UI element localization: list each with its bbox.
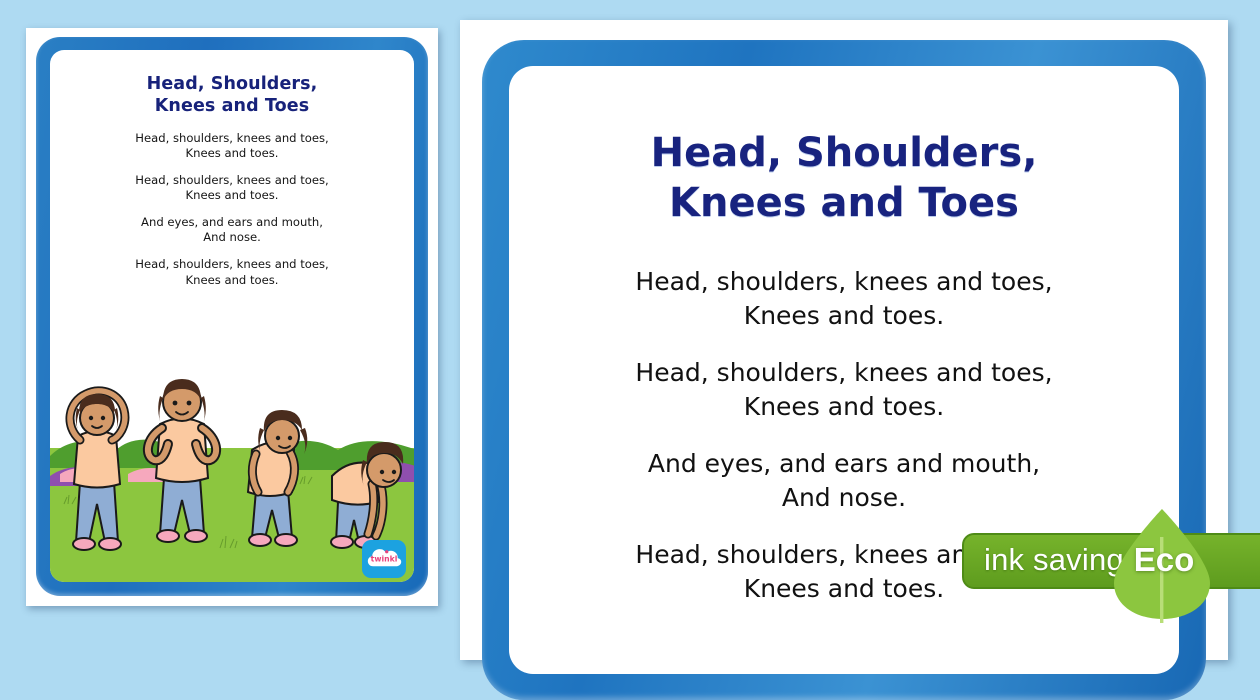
verse-line: Head, shoulders, knees and toes,: [80, 131, 384, 146]
svg-text:twinkl: twinkl: [371, 555, 398, 564]
thumbnail-title: Head, Shoulders, Knees and Toes: [74, 73, 390, 117]
poster-verse: Head, shoulders, knees and toes, Knees a…: [579, 265, 1109, 333]
thumbnail-verse: Head, shoulders, knees and toes, Knees a…: [80, 257, 384, 287]
page-title-line-2: Knees and Toes: [549, 178, 1139, 228]
poster-preview-stage: Head, Shoulders, Knees and Toes Head, sh…: [0, 0, 1260, 630]
thumbnail-blue-border: Head, Shoulders, Knees and Toes Head, sh…: [36, 37, 428, 596]
verse-line: And eyes, and ears and mouth,: [80, 215, 384, 230]
eco-badge-leaf-label: Eco: [1127, 541, 1201, 579]
children-exercise-illustration: twinkl: [50, 352, 414, 582]
verse-line: Knees and toes.: [579, 390, 1109, 424]
illustration-svg: [50, 352, 414, 582]
poster-blue-border: Head, Shoulders, Knees and Toes Head, sh…: [482, 40, 1206, 700]
eco-badge-label: ink saving: [984, 542, 1124, 578]
poster-verse: And eyes, and ears and mouth, And nose.: [579, 447, 1109, 515]
page-title-line-1: Head, Shoulders,: [549, 128, 1139, 178]
verse-line: And nose.: [80, 230, 384, 245]
twinkl-cloud-icon: twinkl: [364, 544, 404, 574]
verse-line: And nose.: [579, 481, 1109, 515]
thumbnail-verse: And eyes, and ears and mouth, And nose.: [80, 215, 384, 245]
thumbnail-title-line-1: Head, Shoulders,: [74, 73, 390, 95]
verse-line: Knees and toes.: [80, 146, 384, 161]
page-title: Head, Shoulders, Knees and Toes: [549, 128, 1139, 229]
verse-line: Knees and toes.: [80, 273, 384, 288]
verse-line: Head, shoulders, knees and toes,: [80, 257, 384, 272]
thumbnail-verses: Head, shoulders, knees and toes, Knees a…: [80, 131, 384, 288]
ink-saving-eco-badge[interactable]: ink saving Eco: [962, 533, 1260, 589]
poster-verse: Head, shoulders, knees and toes, Knees a…: [579, 356, 1109, 424]
thumbnail-verse: Head, shoulders, knees and toes, Knees a…: [80, 131, 384, 161]
verse-line: Knees and toes.: [579, 299, 1109, 333]
verse-line: Head, shoulders, knees and toes,: [579, 356, 1109, 390]
verse-line: Knees and toes.: [80, 188, 384, 203]
verse-line: Head, shoulders, knees and toes,: [579, 265, 1109, 299]
poster-thumbnail-card[interactable]: Head, Shoulders, Knees and Toes Head, sh…: [26, 28, 438, 606]
thumbnail-verse: Head, shoulders, knees and toes, Knees a…: [80, 173, 384, 203]
verse-line: And eyes, and ears and mouth,: [579, 447, 1109, 481]
verse-line: Head, shoulders, knees and toes,: [80, 173, 384, 188]
twinkl-logo: twinkl: [362, 540, 406, 578]
thumbnail-title-line-2: Knees and Toes: [74, 95, 390, 117]
thumbnail-page: Head, Shoulders, Knees and Toes Head, sh…: [50, 50, 414, 582]
